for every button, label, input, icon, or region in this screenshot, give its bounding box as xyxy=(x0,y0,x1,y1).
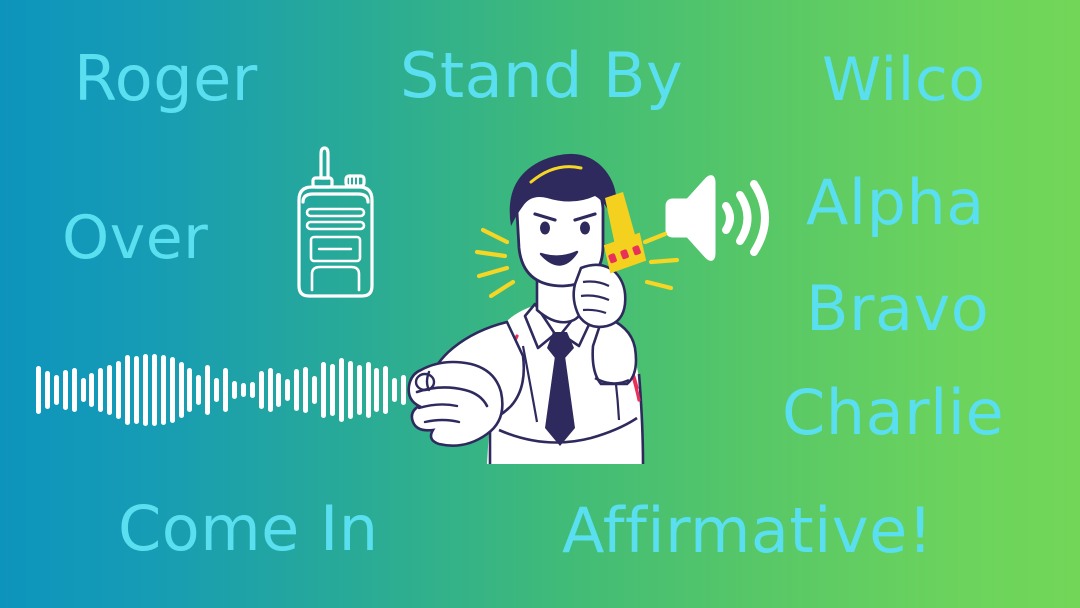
waveform-bar xyxy=(214,378,219,402)
phrase-stand-by: Stand By xyxy=(400,45,683,107)
waveform-bar xyxy=(268,368,273,412)
waveform-bar xyxy=(383,366,388,414)
eye-right xyxy=(580,222,590,235)
phrase-wilco: Wilco xyxy=(822,50,986,110)
waveform-bar xyxy=(125,355,130,425)
waveform-bar xyxy=(72,368,77,412)
waveform-bar xyxy=(259,371,264,409)
waveform-bar xyxy=(134,356,139,424)
waveform-bar xyxy=(312,376,317,404)
waveform-bar xyxy=(98,368,103,412)
audio-waveform-icon xyxy=(36,352,424,428)
phrase-charlie: Charlie xyxy=(782,382,1004,444)
waveform-bar xyxy=(250,382,255,398)
waveform-bar xyxy=(330,364,335,416)
waveform-bar xyxy=(276,373,281,407)
waveform-bar xyxy=(241,383,246,397)
phrase-alpha: Alpha xyxy=(806,172,985,234)
waveform-bar xyxy=(54,375,59,405)
eye-left xyxy=(540,222,550,235)
waveform-bar xyxy=(303,367,308,413)
waveform-bar xyxy=(321,362,326,418)
waveform-bar xyxy=(45,371,50,409)
waveform-bar xyxy=(143,354,148,426)
phrase-affirmative: Affirmative! xyxy=(562,500,933,562)
poster-canvas: Roger Stand By Wilco Over Alpha Bravo Ch… xyxy=(0,0,1080,608)
waveform-bar xyxy=(36,366,41,414)
waveform-bar xyxy=(339,358,344,422)
waveform-bar xyxy=(170,357,175,423)
man-with-walkie-talkie-illustration xyxy=(395,134,695,474)
phrase-roger: Roger xyxy=(74,48,258,110)
handheld-radio xyxy=(605,192,645,272)
sparkle-right xyxy=(645,234,677,288)
phrase-over: Over xyxy=(62,208,208,268)
waveform-bar xyxy=(366,362,371,418)
walkie-talkie-icon xyxy=(285,138,385,304)
waveform-bar xyxy=(161,355,166,425)
waveform-bar xyxy=(107,365,112,415)
waveform-bar xyxy=(187,368,192,412)
waveform-bar xyxy=(63,370,68,410)
waveform-bar xyxy=(294,369,299,411)
waveform-bar xyxy=(374,368,379,412)
waveform-bar xyxy=(232,381,237,399)
waveform-bar xyxy=(196,375,201,405)
waveform-bar xyxy=(357,365,362,415)
waveform-bar xyxy=(81,378,86,402)
waveform-bar xyxy=(223,368,228,412)
waveform-bar xyxy=(116,361,121,419)
phrase-bravo: Bravo xyxy=(806,278,989,340)
waveform-bar xyxy=(205,365,210,415)
sparkle-left xyxy=(477,230,513,296)
waveform-bar xyxy=(89,373,94,407)
waveform-bar xyxy=(348,361,353,419)
waveform-bar xyxy=(152,354,157,426)
waveform-bar xyxy=(285,379,290,401)
waveform-bar xyxy=(179,362,184,418)
phrase-come-in: Come In xyxy=(118,498,379,560)
